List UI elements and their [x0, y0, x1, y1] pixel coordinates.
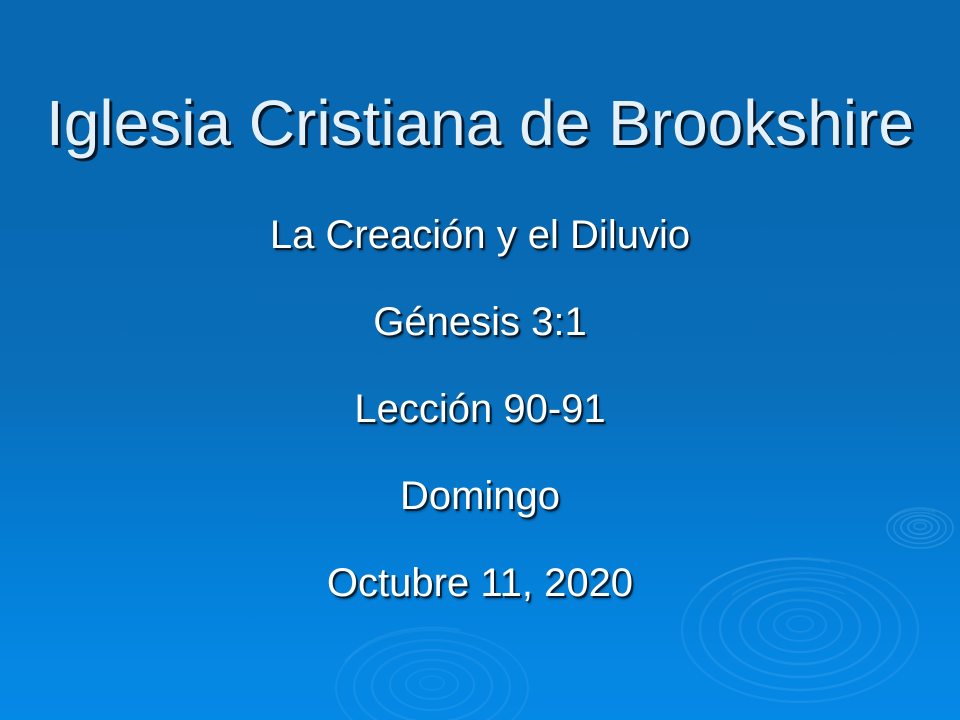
subtitle-line-lesson-number: Lección 90-91: [0, 366, 960, 453]
slide-subtitle-block: La Creación y el Diluvio Génesis 3:1 Lec…: [0, 192, 960, 627]
water-ripple-medium-left: [336, 628, 528, 720]
presentation-slide: Iglesia Cristiana de Brookshire La Creac…: [0, 0, 960, 720]
subtitle-line-date: Octubre 11, 2020: [0, 540, 960, 627]
subtitle-line-lesson-name: La Creación y el Diluvio: [0, 192, 960, 279]
slide-title: Iglesia Cristiana de Brookshire: [0, 91, 960, 155]
subtitle-line-scripture: Génesis 3:1: [0, 279, 960, 366]
subtitle-line-weekday: Domingo: [0, 453, 960, 540]
